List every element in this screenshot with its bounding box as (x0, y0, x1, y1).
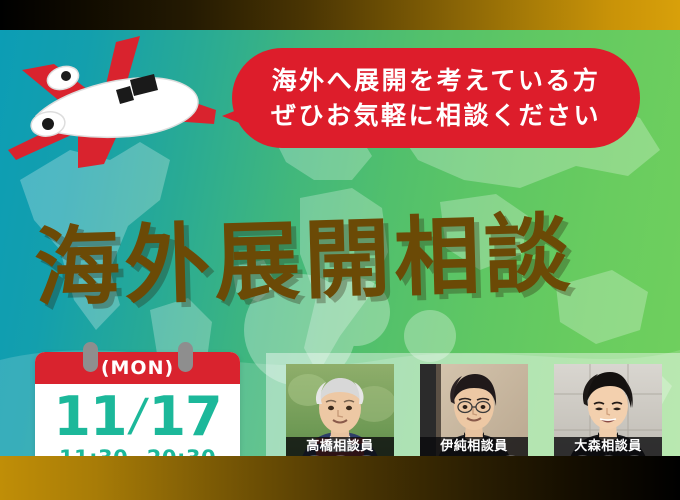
banner-stage: 海外へ展開を考えている方 ぜひお気軽に相談ください 海外展開相談 (MON) 1… (0, 30, 680, 456)
advisor-card: 高橋相談員 (286, 364, 394, 456)
advisor-name: 大森相談員 (574, 440, 642, 453)
top-gradient-bar (0, 0, 680, 30)
calendar-date-row: 11 / 17 (35, 386, 240, 448)
advisor-card-list: 高橋相談員 (286, 364, 662, 456)
calendar-ring-left (83, 342, 98, 372)
calendar-month: 11 (53, 390, 126, 444)
speech-bubble-line-1: 海外へ展開を考えている方 (272, 63, 601, 99)
event-date-calendar: (MON) 11 / 17 11:30--20:30 (35, 352, 240, 456)
advisor-card-footer: 伊純相談員 東南 アジア (420, 437, 528, 456)
calendar-day: 17 (148, 390, 221, 444)
advisor-card-footer: 大森相談員 (554, 437, 662, 456)
calendar-time-range: 11:30--20:30 (35, 446, 240, 456)
advisor-name: 高橋相談員 (306, 440, 374, 453)
calendar-date-separator: / (125, 392, 150, 442)
overseas-expansion-consultation-banner: 海外へ展開を考えている方 ぜひお気軽に相談ください 海外展開相談 (MON) 1… (0, 0, 680, 500)
calendar-day-of-week: (MON) (101, 357, 174, 379)
airplane-icon (8, 30, 218, 188)
calendar-body: (MON) 11 / 17 11:30--20:30 (35, 352, 240, 456)
advisor-card-footer: 高橋相談員 (286, 437, 394, 456)
speech-bubble-line-2: ぜひお気軽に相談ください (271, 98, 601, 134)
advisor-card: 伊純相談員 東南 アジア (420, 364, 528, 456)
calendar-header: (MON) (35, 352, 240, 384)
advisor-card: 大森相談員 (554, 364, 662, 456)
page-title: 海外展開相談 (32, 183, 575, 323)
bottom-gradient-bar (0, 456, 680, 500)
calendar-ring-right (178, 342, 193, 372)
speech-bubble: 海外へ展開を考えている方 ぜひお気軽に相談ください (232, 48, 640, 148)
advisor-name: 伊純相談員 (440, 440, 508, 453)
